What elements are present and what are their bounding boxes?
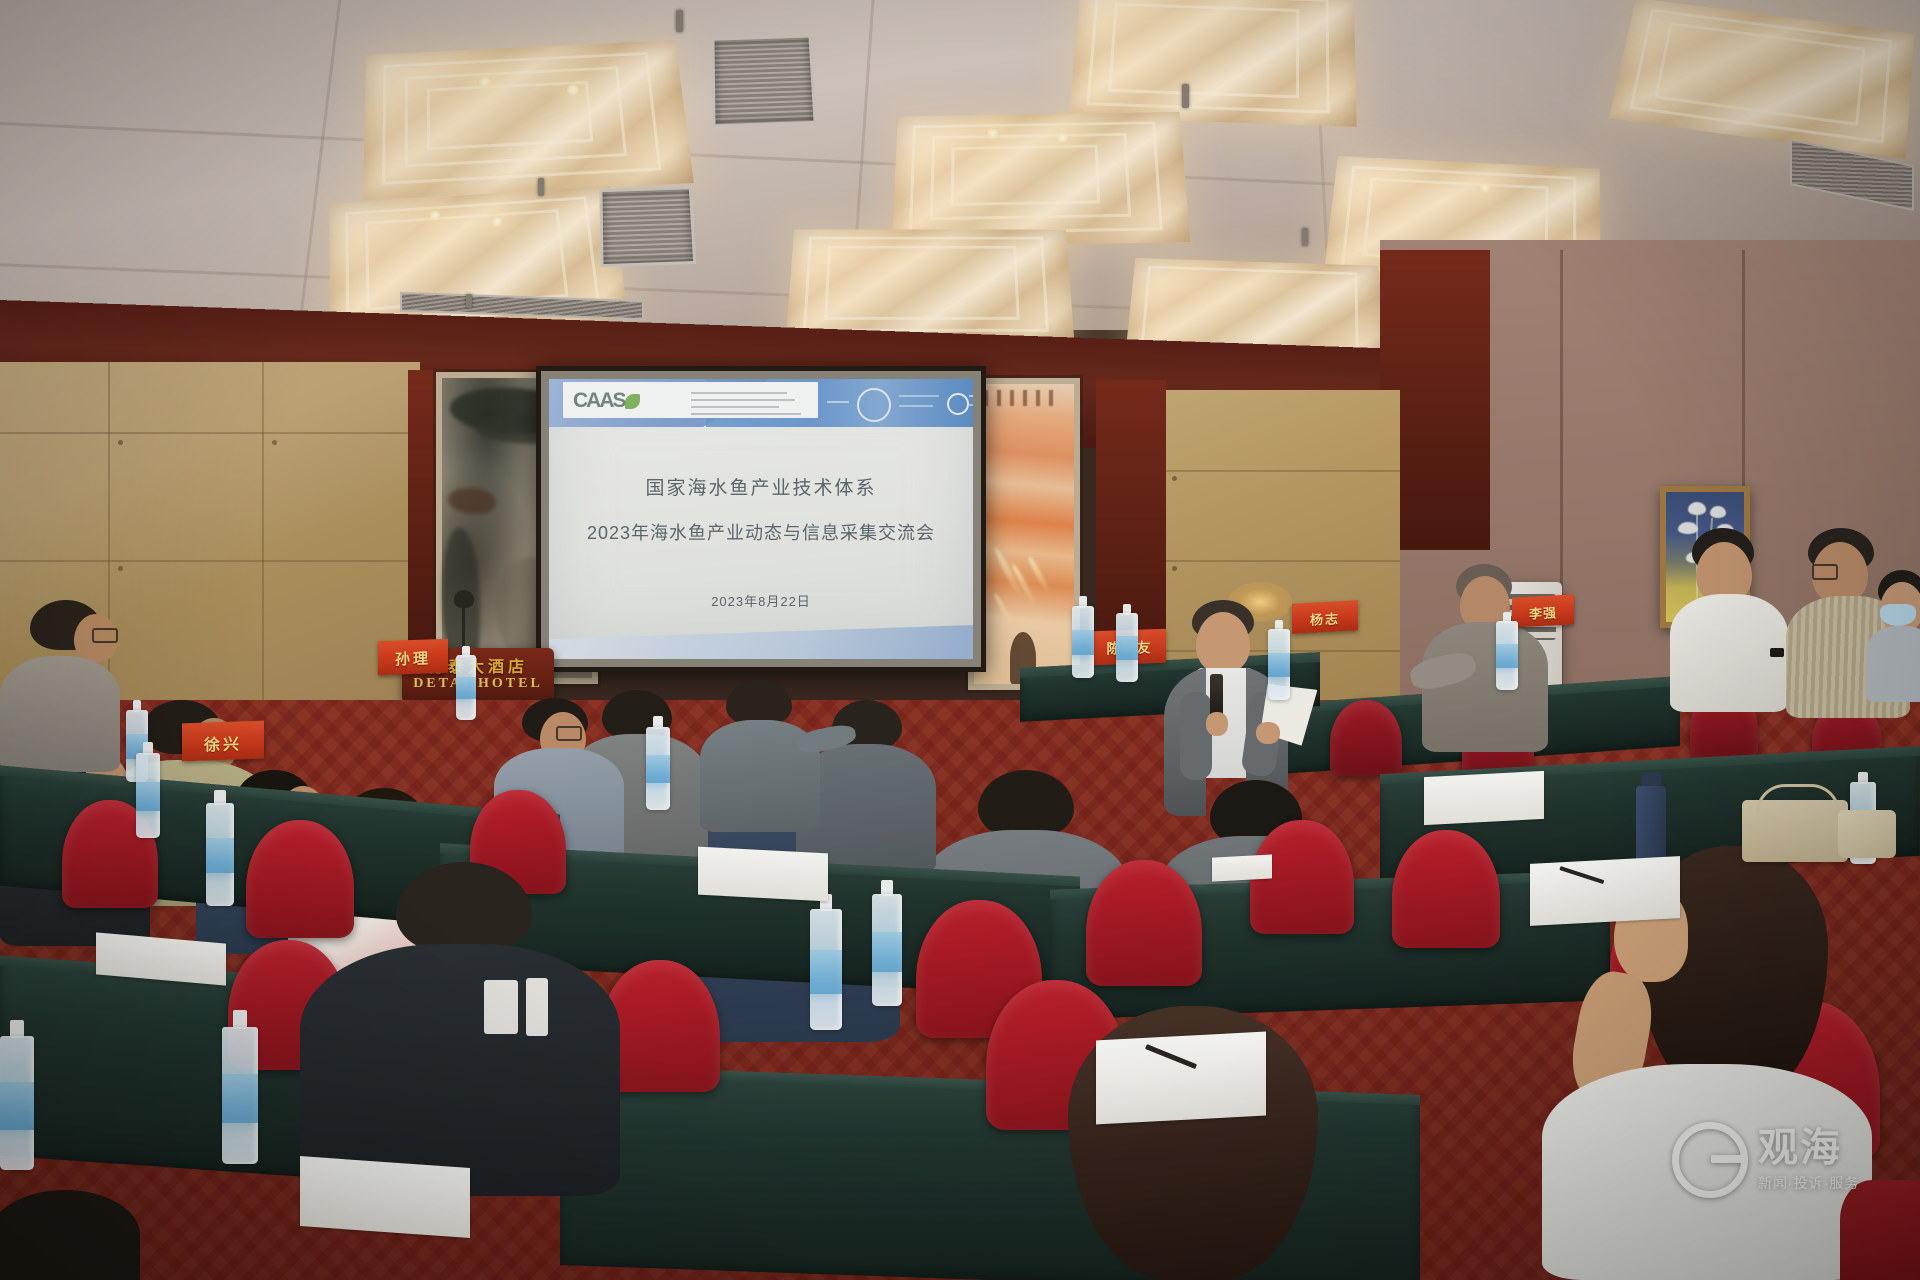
stone-wall-joint	[0, 560, 420, 562]
bottle-body	[1116, 613, 1138, 682]
watermark-g-icon	[1672, 1122, 1748, 1198]
bottle-label	[0, 1082, 34, 1130]
hair	[396, 862, 532, 954]
ceiling-air-vent	[600, 186, 697, 267]
bottle-body	[222, 1027, 258, 1164]
mural-calligraphy	[984, 390, 1058, 406]
attendee	[700, 680, 820, 830]
hand	[1256, 722, 1280, 744]
bottle-label	[810, 950, 842, 994]
stone-wall-joint	[0, 432, 420, 434]
wall-fixing-dot	[118, 566, 123, 571]
thermos-body	[1636, 786, 1666, 864]
bottle-label	[456, 677, 476, 699]
stone-wall-joint	[1160, 560, 1400, 562]
ceiling-spotlight	[490, 216, 504, 227]
header-logo-rule	[691, 406, 779, 408]
slide-date: 2023年8月22日	[549, 591, 973, 610]
water-bottle	[1496, 612, 1518, 690]
name-card: 孙理	[378, 639, 448, 675]
bottle-label	[872, 932, 902, 972]
partner-logo-rule	[899, 405, 933, 407]
bottle-body	[872, 894, 902, 1006]
sprinkler-head	[1302, 228, 1308, 246]
bottle-label	[646, 755, 670, 783]
slide-footer-band	[549, 625, 973, 659]
torso	[0, 656, 120, 772]
shirt-print	[484, 980, 518, 1034]
hand	[1206, 712, 1228, 736]
arm	[1180, 692, 1212, 780]
header-logo-card: CAAS	[563, 382, 818, 418]
attendee	[0, 600, 120, 770]
attendee	[300, 862, 620, 1192]
light-reflection	[993, 592, 1013, 624]
bottle-label	[206, 838, 234, 873]
torso	[1422, 622, 1548, 752]
thermos-bottle	[1636, 772, 1666, 864]
sprinkler-head	[676, 10, 683, 32]
podium-name-en: DETAI HOTEL	[402, 676, 554, 692]
ceiling-air-vent	[712, 35, 817, 128]
water-bottle	[456, 646, 476, 720]
water-bottle	[646, 716, 670, 810]
slide-header-band: CAAS	[549, 379, 973, 427]
ceiling-spotlight	[428, 210, 442, 221]
slide-title-line2: 2023年海水鱼产业动态与信息采集交流会	[549, 519, 973, 545]
notepad	[1212, 854, 1272, 881]
painted-flower	[1710, 506, 1726, 518]
bottle-body	[646, 727, 670, 810]
name-card: 杨志	[1292, 600, 1358, 633]
stone-wall-joint	[1160, 470, 1400, 472]
bottle-body	[0, 1036, 34, 1170]
sprinkler-head	[466, 294, 472, 308]
bottle-body	[1072, 606, 1094, 678]
watermark-logo: 观海 新闻·投诉·服务	[1672, 1122, 1859, 1198]
face-mask	[1880, 604, 1916, 626]
attendee	[1872, 570, 1920, 700]
ceiling-spotlight	[1478, 182, 1492, 193]
bottle-body	[1268, 629, 1290, 700]
partner-logo-icon	[947, 393, 969, 415]
bottle-label	[1268, 653, 1290, 677]
ceiling-spotlight	[565, 84, 581, 96]
header-logo-rule	[691, 392, 787, 394]
partner-logo-rule	[899, 395, 939, 397]
partner-logo-icon	[857, 388, 891, 422]
hair	[978, 770, 1074, 838]
watermark-tagline: 新闻·投诉·服务	[1758, 1173, 1859, 1193]
torso	[1866, 626, 1920, 702]
projection-screen-frame: CAAS 国家海水鱼产业技术体系 2023	[536, 366, 986, 672]
presentation-slide: CAAS 国家海水鱼产业技术体系 2023	[549, 379, 973, 659]
partner-logo-rule	[969, 404, 973, 406]
notepad	[300, 1156, 470, 1238]
ceiling-light-well	[892, 112, 1191, 247]
attendee	[0, 1190, 140, 1280]
water-bottle	[872, 880, 902, 1006]
glasses-icon	[92, 628, 118, 643]
bottle-label	[136, 782, 160, 811]
notepad	[1530, 856, 1680, 926]
water-bottle	[136, 742, 160, 838]
wall-fixing-dot	[272, 440, 277, 445]
attendee	[1418, 564, 1548, 764]
torso	[300, 944, 620, 1196]
bottle-body	[1496, 621, 1518, 690]
sprinkler-head	[1182, 84, 1189, 108]
bottle-label	[1072, 630, 1094, 654]
wall-fixing-dot	[1172, 476, 1177, 481]
wall-fixing-dot	[118, 440, 123, 445]
ceiling-spotlight	[477, 76, 493, 88]
ceiling-light-well	[786, 230, 1075, 342]
water-bottle	[222, 1010, 258, 1164]
bottle-label	[222, 1074, 258, 1123]
handbag-scarf	[1838, 810, 1896, 858]
shirt-print	[526, 978, 548, 1036]
light-reflection	[1026, 555, 1051, 595]
glasses-icon	[1812, 564, 1838, 580]
watermark-brand: 观海	[1758, 1128, 1859, 1168]
sprinkler-head	[538, 178, 544, 196]
bottle-body	[456, 655, 476, 720]
water-bottle	[206, 790, 234, 906]
wall-fixing-dot	[1172, 566, 1177, 571]
water-bottle	[1116, 604, 1138, 682]
caas-leaf-icon	[625, 394, 640, 409]
notepad	[698, 847, 828, 902]
ceiling-light-well	[1609, 0, 1914, 159]
water-bottle	[0, 1020, 34, 1170]
water-bottle	[810, 894, 842, 1030]
mural-brushstroke	[448, 488, 496, 514]
notepad	[1096, 1032, 1266, 1125]
ceiling-light-well	[363, 40, 694, 200]
bottle-body	[810, 909, 842, 1030]
header-logo-rule	[691, 399, 795, 401]
water-bottle	[1072, 596, 1094, 678]
name-card-text: 孙理	[378, 647, 448, 670]
handbag-strap	[1756, 784, 1840, 813]
bottle-label	[1116, 636, 1138, 659]
water-bottle	[1268, 620, 1290, 700]
conference-room-photo: CAAS 国家海水鱼产业技术体系 2023	[0, 0, 1920, 1280]
attendee	[1672, 528, 1782, 708]
caas-logo-text: CAAS	[573, 389, 625, 413]
stone-wall-joint	[262, 362, 264, 722]
notepad	[1424, 771, 1544, 825]
partner-logo-rule	[827, 401, 849, 403]
slide-title-line1: 国家海水鱼产业技术体系	[549, 473, 973, 500]
ceiling-spotlight	[1055, 132, 1070, 143]
name-card-text: 杨志	[1292, 607, 1358, 629]
podium-microphone-stand	[462, 604, 465, 650]
chair	[1330, 700, 1402, 776]
watch	[1770, 648, 1784, 657]
bottle-body	[206, 803, 234, 906]
name-card-text: 徐兴	[182, 730, 264, 757]
ceiling-light-well	[1069, 0, 1357, 127]
head	[1196, 612, 1250, 674]
name-card-text: 李强	[1512, 601, 1574, 623]
name-card: 徐兴	[182, 721, 264, 762]
name-card: 李强	[1512, 594, 1574, 627]
bottle-body	[136, 753, 160, 838]
header-logo-subtext	[691, 413, 801, 415]
glasses-icon	[556, 726, 582, 741]
podium-microphone-head	[454, 590, 474, 608]
partner-logo-rule	[969, 395, 973, 397]
bottle-label	[1496, 644, 1518, 667]
ceiling-spotlight	[985, 128, 1000, 139]
